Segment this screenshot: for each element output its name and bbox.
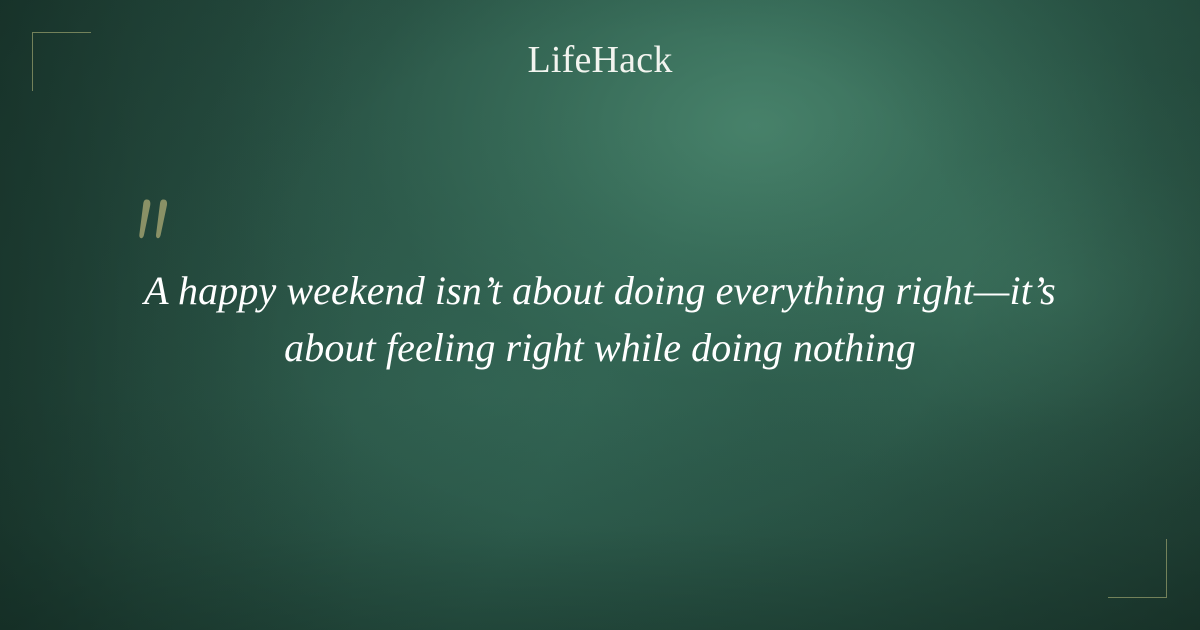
corner-bracket-bottom-right-icon bbox=[1108, 539, 1167, 598]
brand-name-text: LifeHack bbox=[527, 38, 672, 82]
double-quote-mark-icon bbox=[133, 196, 193, 252]
quote-block: A happy weekend isn’t about doing everyt… bbox=[100, 262, 1100, 376]
brand-wordmark: LifeHack bbox=[0, 38, 1200, 82]
quote-text: A happy weekend isn’t about doing everyt… bbox=[100, 262, 1100, 376]
quote-card: LifeHack A happy weekend isn’t about doi… bbox=[0, 0, 1200, 630]
